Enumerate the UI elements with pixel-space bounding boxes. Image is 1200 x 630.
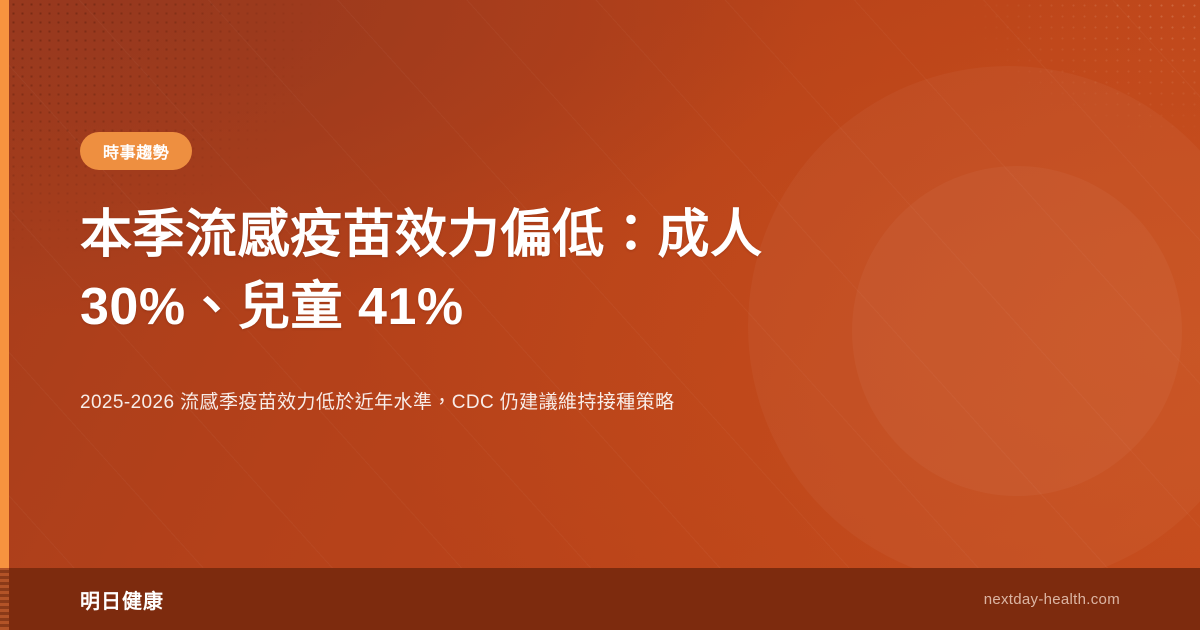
category-badge: 時事趨勢 xyxy=(80,132,192,170)
left-accent-bar xyxy=(0,0,9,568)
card-content: 時事趨勢 本季流感疫苗效力偏低：成人 30%、兒童 41% 2025-2026 … xyxy=(80,0,950,568)
headline-title: 本季流感疫苗效力偏低：成人 30%、兒童 41% xyxy=(80,200,870,344)
social-share-card: 時事趨勢 本季流感疫苗效力偏低：成人 30%、兒童 41% 2025-2026 … xyxy=(0,0,1200,630)
card-footer: 明日健康 nextday-health.com xyxy=(0,568,1200,630)
site-domain: nextday-health.com xyxy=(984,591,1120,608)
brand-name: 明日健康 xyxy=(80,585,164,614)
subheadline-text: 2025-2026 流感季疫苗效力低於近年水準，CDC 仍建議維持接種策略 xyxy=(80,388,880,418)
